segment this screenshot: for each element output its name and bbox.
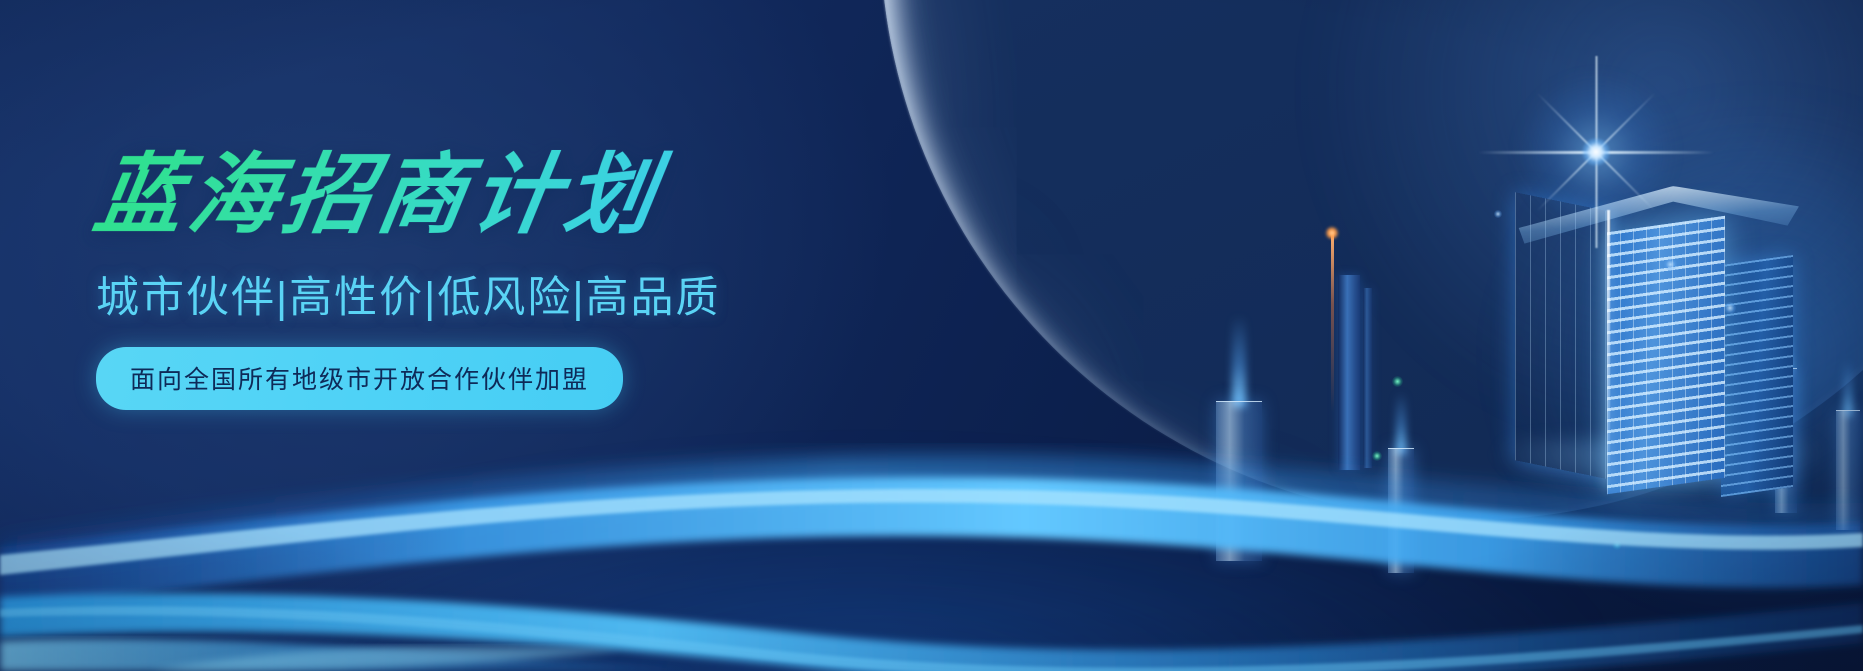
antenna-light-icon <box>1325 226 1339 240</box>
lens-flare-star-icon <box>1596 152 1598 154</box>
particle-dot-blue <box>1724 302 1736 314</box>
banner-text-block: 蓝海招商计划 城市伙伴|高性价|低风险|高品质 面向全国所有地级市开放合作伙伴加… <box>96 148 856 410</box>
banner-title: 蓝海招商计划 <box>89 148 864 241</box>
particle-dot-blue <box>1664 258 1677 271</box>
banner-cta-badge[interactable]: 面向全国所有地级市开放合作伙伴加盟 <box>96 347 623 410</box>
particle-dot-blue <box>1494 210 1502 218</box>
flare-core <box>1582 138 1610 166</box>
promo-banner: 蓝海招商计划 城市伙伴|高性价|低风险|高品质 面向全国所有地级市开放合作伙伴加… <box>0 0 1863 671</box>
banner-subtitle: 城市伙伴|高性价|低风险|高品质 <box>96 263 856 325</box>
